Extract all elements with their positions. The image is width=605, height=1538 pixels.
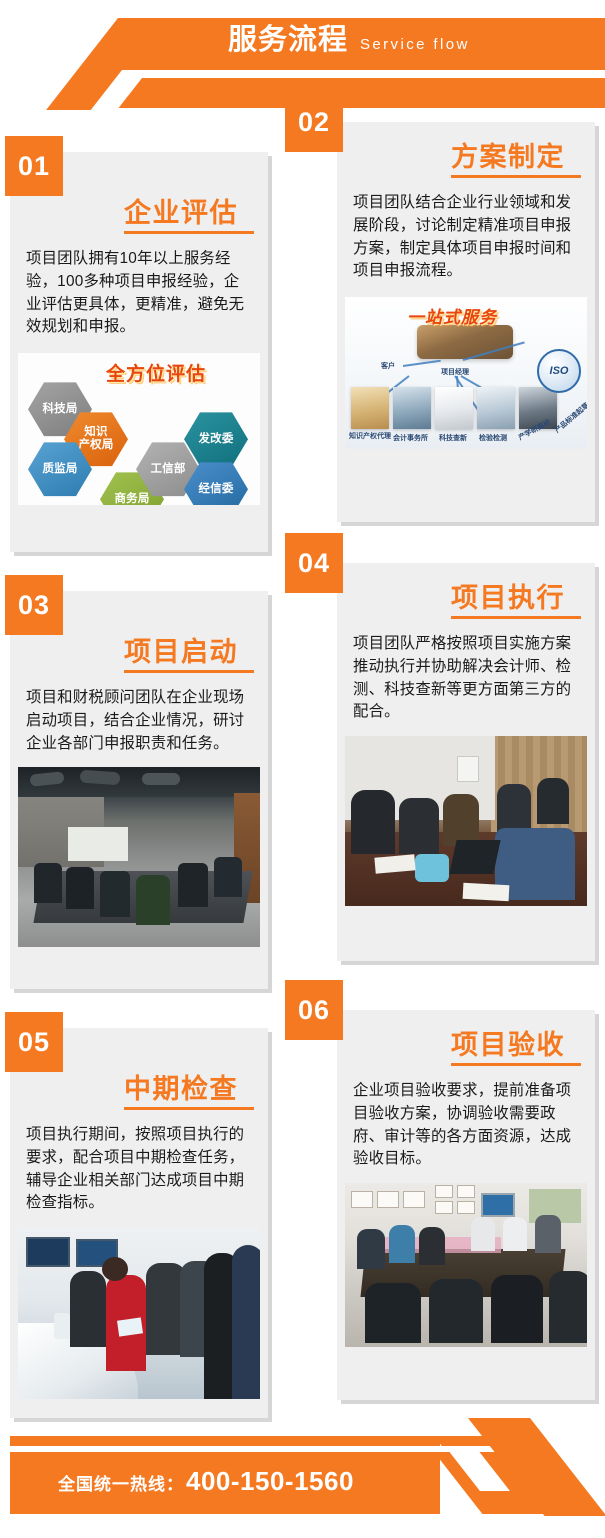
card-row-1: 01 企业评估 项目团队拥有10年以上服务经验，100多种项目申报经验，企业评估…	[0, 108, 605, 563]
one-stop-bottom-label-2: 会计事务所	[393, 433, 428, 443]
one-stop-thumb-4	[477, 387, 515, 429]
card-title-06: 项目验收	[451, 1030, 581, 1066]
card-title-01: 企业评估	[124, 198, 254, 234]
service-card-03[interactable]: 03 项目启动 项目和财税顾问团队在企业现场启动项目，结合企业情况，研讨企业各部…	[10, 591, 268, 989]
card-body-05: 项目执行期间，按照项目执行的要求，配合项目中期检查任务，辅导企业相关部门达成项目…	[10, 1110, 268, 1227]
card-title-03: 项目启动	[124, 637, 254, 673]
card-title-05: 中期检查	[124, 1074, 254, 1110]
card-title-row-06: 项目验收	[337, 1010, 595, 1066]
service-card-05[interactable]: 05 中期检查 项目执行期间，按照项目执行的要求，配合项目中期检查任务，辅导企业…	[10, 1028, 268, 1418]
service-card-04[interactable]: 04 项目执行 项目团队严格按照项目实施方案推动执行并协助解决会计师、检测、科技…	[337, 563, 595, 961]
footer-stripe-angle	[434, 1436, 504, 1446]
header-separator	[150, 70, 605, 78]
one-stop-thumb-2	[393, 387, 431, 429]
header-stripe	[175, 78, 605, 108]
card-row-2: 03 项目启动 项目和财税顾问团队在企业现场启动项目，结合企业情况，研讨企业各部…	[0, 563, 605, 1010]
card-photo-04	[345, 736, 587, 906]
footer-stripe	[10, 1436, 440, 1446]
service-card-01[interactable]: 01 企业评估 项目团队拥有10年以上服务经验，100多种项目申报经验，企业评估…	[10, 152, 268, 552]
card-title-row-02: 方案制定	[337, 122, 595, 178]
one-stop-title: 一站式服务	[407, 303, 497, 328]
card-body-04: 项目团队严格按照项目实施方案推动执行并协助解决会计师、检测、科技查新等更方面第三…	[337, 619, 595, 736]
one-stop-label-project-manager: 项目经理	[441, 367, 469, 377]
card-body-06: 企业项目验收要求，提前准备项目验收方案，协调验收需要政府、审计等的各方面资源，达…	[337, 1066, 595, 1183]
one-stop-arrow-1	[403, 360, 441, 367]
card-photo-06	[345, 1183, 587, 1347]
service-card-06[interactable]: 06 项目验收 企业项目验收要求，提前准备项目验收方案，协调验收需要政府、审计等…	[337, 1010, 595, 1400]
card-body-03: 项目和财税顾问团队在企业现场启动项目，结合企业情况，研讨企业各部门申报职责和任务…	[10, 673, 268, 767]
one-stop-bottom-label-1: 知识产权代理	[349, 431, 391, 441]
card-number-badge-05: 05	[5, 1012, 63, 1072]
hotline-label: 全国统一热线：	[58, 1470, 184, 1495]
one-stop-center-photo	[417, 325, 513, 359]
footer-separator	[0, 1445, 450, 1452]
hexagon-diagram-01: 全方位评估 科技局 知识产权局 质监局 商务局 工信部 发改委 经信委	[18, 353, 260, 505]
one-stop-service-diagram: 一站式服务 客户 项目经理 ISO 知识产权代理 会计事务所 科技查新	[345, 297, 587, 449]
one-stop-thumb-3	[435, 387, 473, 429]
one-stop-thumb-1	[351, 387, 389, 429]
card-row-3: 05 中期检查 项目执行期间，按照项目执行的要求，配合项目中期检查任务，辅导企业…	[0, 1010, 605, 1435]
card-number-badge-04: 04	[285, 533, 343, 593]
header-title-group: 服务流程 Service flow	[228, 26, 470, 55]
one-stop-bottom-label-4: 检验检测	[479, 433, 507, 443]
card-title-row-04: 项目执行	[337, 563, 595, 619]
page-footer: 全国统一热线： 400-150-1560	[0, 1418, 605, 1538]
hexagon-diagram-title: 全方位评估	[106, 359, 206, 386]
card-body-01: 项目团队拥有10年以上服务经验，100多种项目申报经验，企业评估更具体，更精准，…	[10, 234, 268, 351]
service-flow-cards: 01 企业评估 项目团队拥有10年以上服务经验，100多种项目申报经验，企业评估…	[0, 108, 605, 1435]
card-photo-05	[18, 1227, 260, 1399]
card-number-badge-06: 06	[285, 980, 343, 1040]
iso-badge-icon: ISO	[537, 349, 581, 393]
one-stop-bottom-label-6: 产品标准起草	[553, 401, 587, 436]
card-title-02: 方案制定	[451, 142, 581, 178]
one-stop-label-customer: 客户	[381, 361, 395, 371]
page-title: 服务流程	[228, 26, 348, 55]
card-number-badge-01: 01	[5, 136, 63, 196]
card-title-04: 项目执行	[451, 583, 581, 619]
card-number-badge-02: 02	[285, 92, 343, 152]
hotline-number[interactable]: 400-150-1560	[186, 1466, 354, 1497]
page-subtitle: Service flow	[360, 37, 470, 52]
card-body-02: 项目团队结合企业行业领域和发展阶段，讨论制定精准项目申报方案，制定具体项目申报时…	[337, 178, 595, 295]
card-photo-03	[18, 767, 260, 947]
service-card-02[interactable]: 02 方案制定 项目团队结合企业行业领域和发展阶段，讨论制定精准项目申报方案，制…	[337, 122, 595, 522]
one-stop-bottom-label-3: 科技查新	[439, 433, 467, 443]
card-number-badge-03: 03	[5, 575, 63, 635]
hotline-group: 全国统一热线： 400-150-1560	[58, 1466, 354, 1497]
